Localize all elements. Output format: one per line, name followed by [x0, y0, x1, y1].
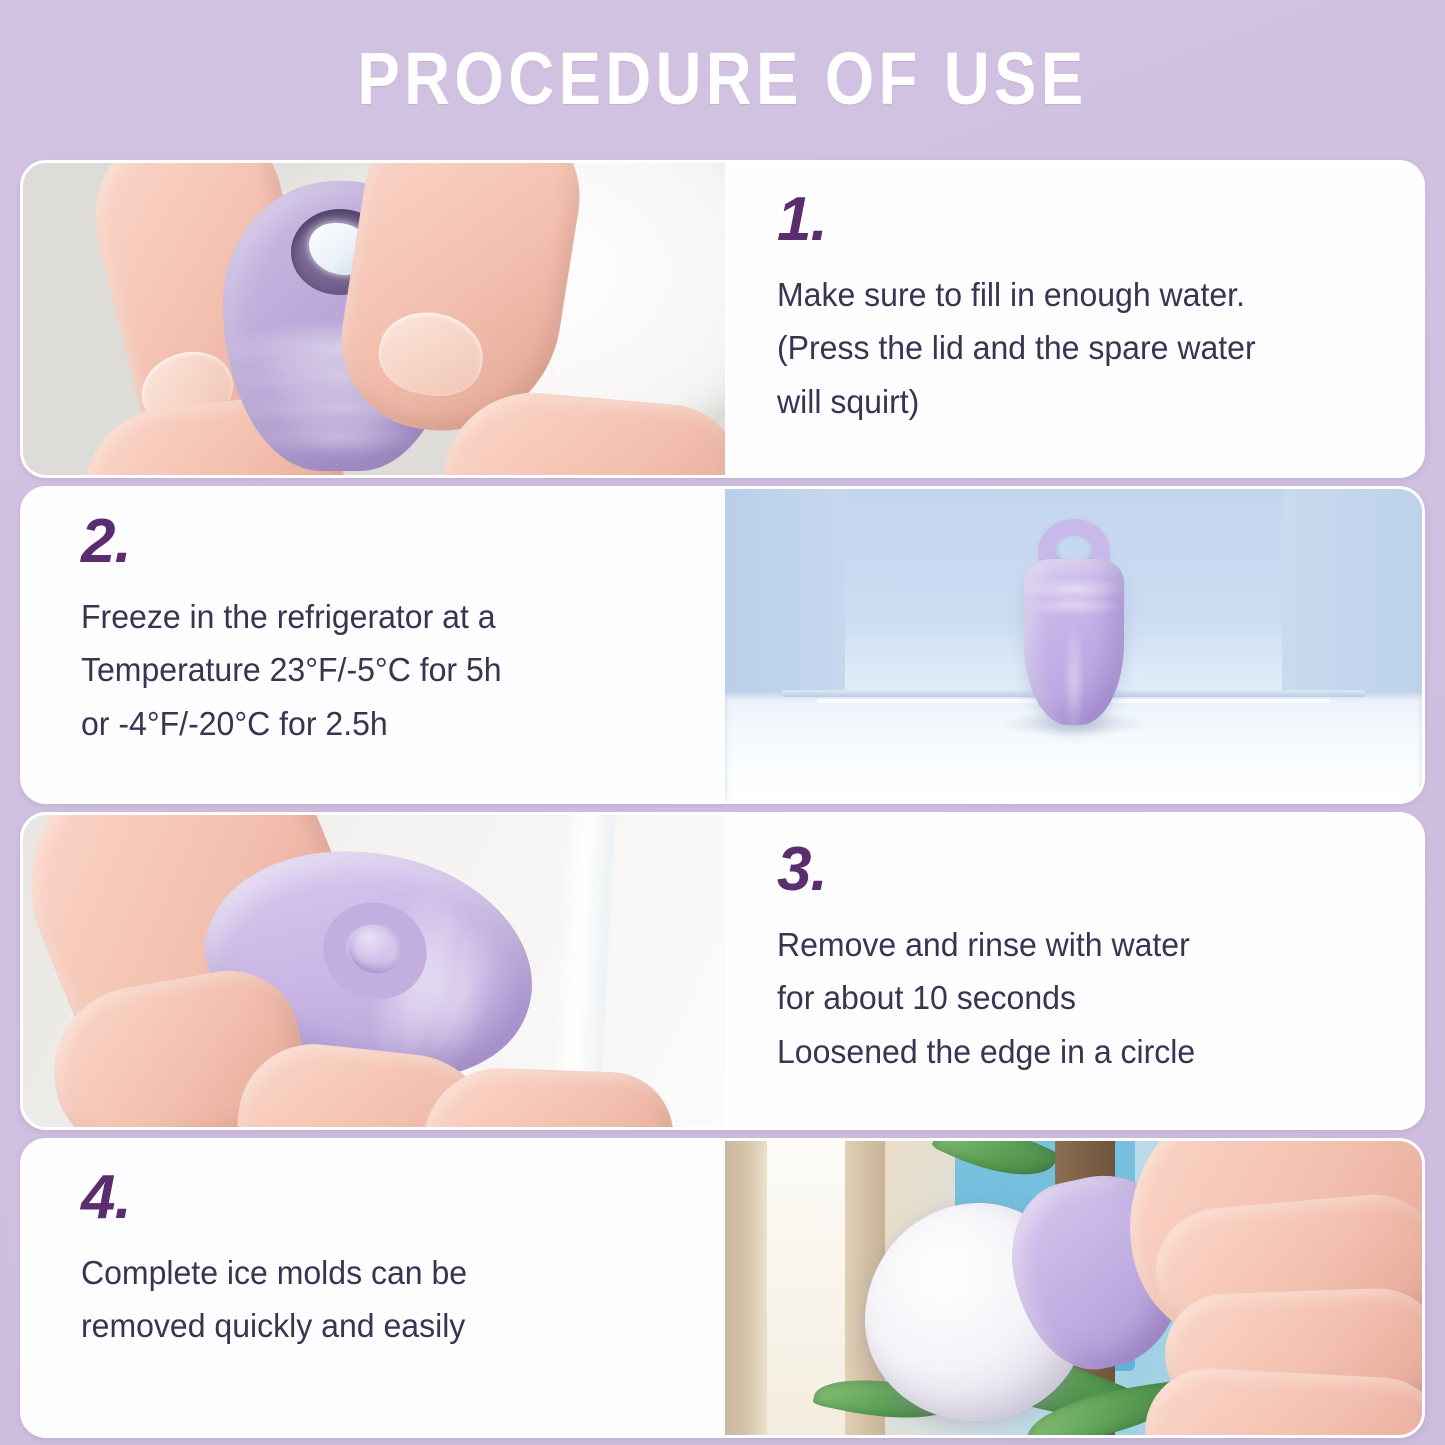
step-4-description: Complete ice molds can be removed quickl…: [81, 1246, 673, 1353]
step-2-line-3: or -4°F/-20°C for 2.5h: [81, 697, 673, 750]
step-1-description: Make sure to fill in enough water. (Pres…: [777, 268, 1370, 428]
step-2-line-2: Temperature 23°F/-5°C for 5h: [81, 643, 673, 696]
step-4-line-2: removed quickly and easily: [81, 1299, 673, 1352]
step-4-photo: [725, 1141, 1422, 1435]
step-row-2: 2. Freeze in the refrigerator at a Tempe…: [20, 486, 1425, 804]
step-1-body: 1. Make sure to fill in enough water. (P…: [777, 191, 1388, 428]
step-2-number: 2.: [81, 513, 691, 572]
title-bar: PROCEDURE OF USE: [0, 28, 1445, 128]
photo-mold-in-freezer: [725, 489, 1422, 801]
step-2-description: Freeze in the refrigerator at a Temperat…: [81, 590, 673, 750]
step-3-line-1: Remove and rinse with water: [777, 918, 1370, 971]
step-1-line-2: (Press the lid and the spare water: [777, 321, 1370, 374]
step-3-line-3: Loosened the edge in a circle: [777, 1025, 1370, 1078]
infographic-page: PROCEDURE OF USE: [0, 0, 1445, 1445]
step-3-number: 3.: [777, 841, 1388, 900]
step-4-line-1: Complete ice molds can be: [81, 1246, 673, 1299]
step-2-text-pane: 2. Freeze in the refrigerator at a Tempe…: [23, 489, 725, 801]
step-2-photo: [725, 489, 1422, 801]
step-3-description: Remove and rinse with water for about 10…: [777, 918, 1370, 1078]
photo-filling-mold: [23, 163, 725, 475]
step-3-photo: [23, 815, 725, 1127]
step-4-text-pane: 4. Complete ice molds can be removed qui…: [23, 1141, 725, 1435]
photo-rinsing-mold: [23, 815, 725, 1127]
ice-mold-product: [1024, 559, 1124, 725]
step-row-3: 3. Remove and rinse with water for about…: [20, 812, 1425, 1130]
photo-ice-released: [725, 1141, 1422, 1435]
step-2-line-1: Freeze in the refrigerator at a: [81, 590, 673, 643]
step-2-body: 2. Freeze in the refrigerator at a Tempe…: [81, 513, 691, 750]
step-1-line-1: Make sure to fill in enough water.: [777, 268, 1370, 321]
step-row-4: 4. Complete ice molds can be removed qui…: [20, 1138, 1425, 1438]
step-1-text-pane: 1. Make sure to fill in enough water. (P…: [725, 163, 1422, 475]
step-1-line-3: will squirt): [777, 375, 1370, 428]
page-title: PROCEDURE OF USE: [357, 36, 1087, 121]
window-frame-left: [725, 1141, 773, 1435]
step-3-body: 3. Remove and rinse with water for about…: [777, 841, 1388, 1078]
step-3-text-pane: 3. Remove and rinse with water for about…: [725, 815, 1422, 1127]
step-row-1: 1. Make sure to fill in enough water. (P…: [20, 160, 1425, 478]
step-1-photo: [23, 163, 725, 475]
step-3-line-2: for about 10 seconds: [777, 971, 1370, 1024]
step-4-body: 4. Complete ice molds can be removed qui…: [81, 1169, 691, 1353]
step-4-number: 4.: [81, 1169, 691, 1228]
step-1-number: 1.: [777, 191, 1388, 250]
